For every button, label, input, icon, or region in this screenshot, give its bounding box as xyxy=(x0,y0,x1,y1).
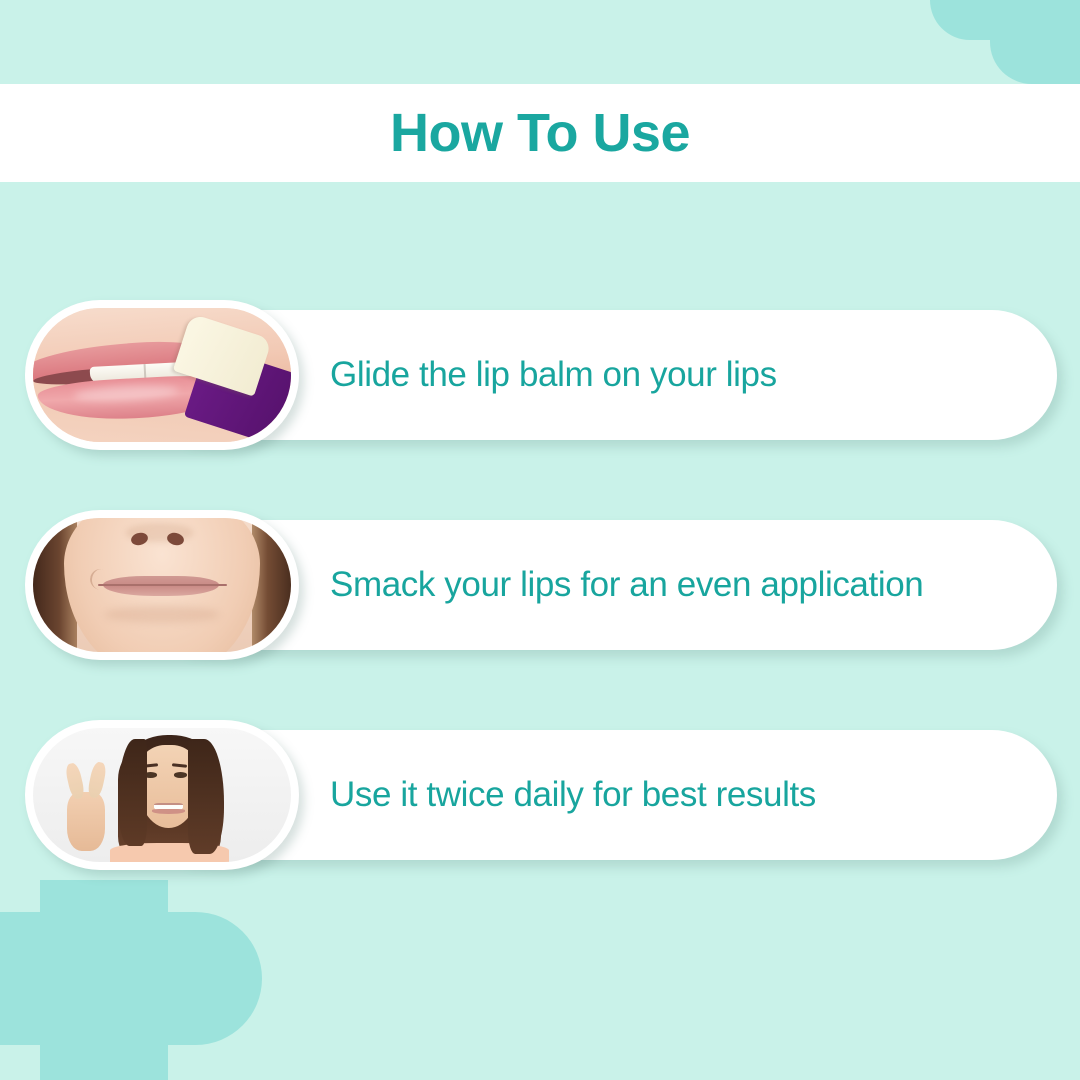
step-item: Use it twice daily for best results xyxy=(0,720,1080,870)
woman-peace-sign-smiling-photo xyxy=(33,728,291,862)
woman-lower-face-smiling-photo xyxy=(33,518,291,652)
header-band: How To Use xyxy=(0,84,1080,182)
step-thumbnail xyxy=(25,300,299,450)
poster-canvas: How To Use Glide the lip balm on your li… xyxy=(0,0,1080,1080)
step-thumbnail xyxy=(25,720,299,870)
steps-list: Glide the lip balm on your lips xyxy=(0,300,1080,930)
top-right-rounded-column-decoration xyxy=(990,0,1080,84)
step-label: Use it twice daily for best results xyxy=(330,775,816,815)
step-thumbnail xyxy=(25,510,299,660)
step-label: Glide the lip balm on your lips xyxy=(330,355,777,395)
step-label: Smack your lips for an even application xyxy=(330,565,923,605)
bottom-left-rounded-pill-decoration xyxy=(120,912,262,1045)
lips-with-lip-balm-stick-photo xyxy=(33,308,291,442)
page-title: How To Use xyxy=(390,106,690,160)
step-item: Glide the lip balm on your lips xyxy=(0,300,1080,450)
step-item: Smack your lips for an even application xyxy=(0,510,1080,660)
